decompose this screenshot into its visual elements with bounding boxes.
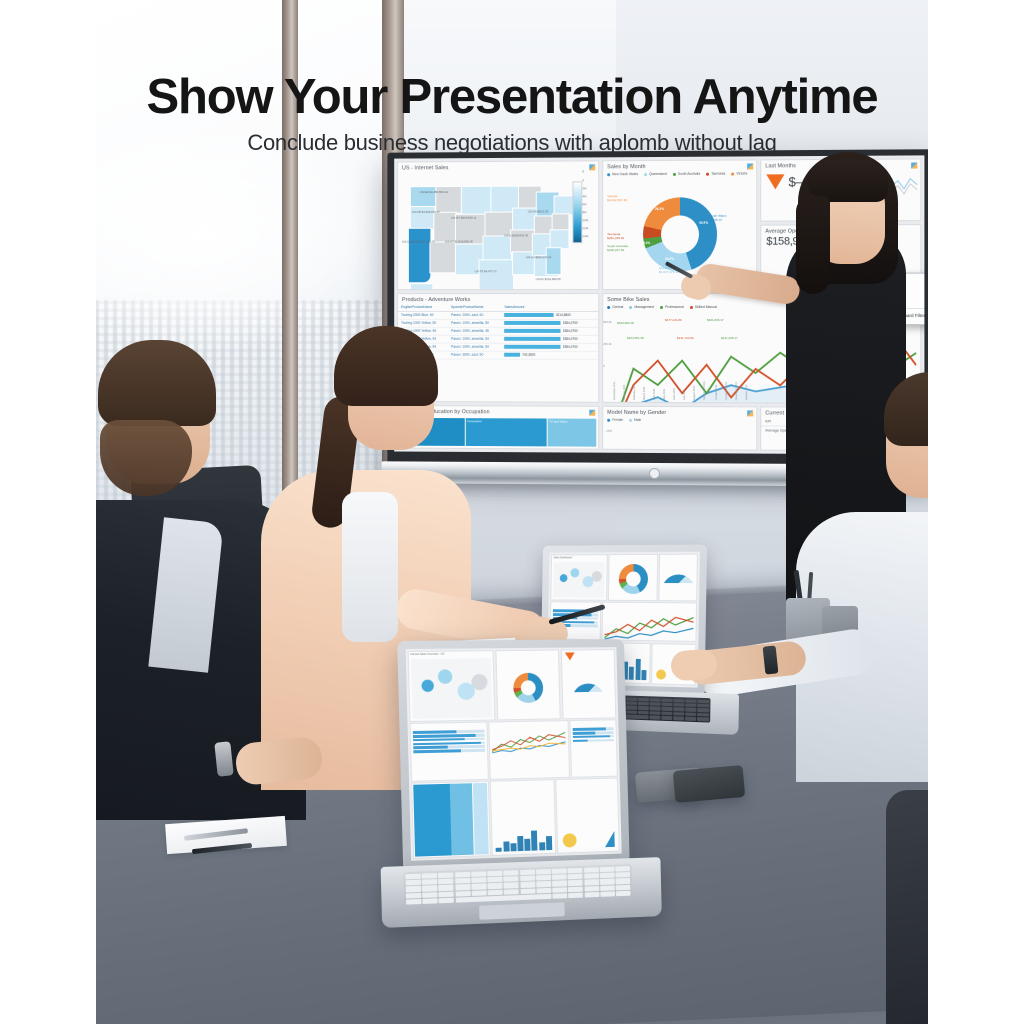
col-english-name[interactable]: EnglishProductName bbox=[398, 304, 448, 311]
office-chair-foreground bbox=[886, 790, 928, 1024]
mini-rows bbox=[573, 727, 615, 774]
mini-title: Internet Sales Overview - US bbox=[409, 651, 493, 657]
mini-donut bbox=[618, 564, 648, 594]
panel-menu-icon[interactable] bbox=[589, 410, 595, 416]
wristwatch bbox=[763, 645, 779, 674]
mini-gauge bbox=[572, 683, 606, 700]
panel-model-name-by-gender[interactable]: Model Name by Gender Female Male 15M bbox=[602, 406, 757, 451]
laptop-keyboard[interactable] bbox=[403, 864, 632, 907]
panel-menu-icon[interactable] bbox=[911, 162, 917, 168]
slice-label-vic: Victoria$1,842,567.38 bbox=[607, 195, 627, 203]
line-annotation: $241,008.17 bbox=[721, 336, 738, 340]
panel-menu-icon[interactable] bbox=[589, 164, 595, 170]
line-annotation: $394,082.28 bbox=[617, 321, 634, 325]
slice-pct-tas: 5.4% bbox=[643, 241, 650, 245]
table-row: Touring-1000 Yellow, 50Paseo: 1000, amar… bbox=[398, 319, 598, 327]
trend-down-icon bbox=[564, 652, 574, 660]
panel-menu-icon[interactable] bbox=[747, 163, 753, 169]
us-choropleth-map[interactable]: US-WA $1,383,834.44 US-OR $1,549,015.07 … bbox=[402, 173, 570, 286]
line-annotation: $241,744.69 bbox=[677, 336, 694, 340]
mini-indicator bbox=[563, 833, 577, 847]
table-row: Touring-1000 Yellow, 54Paseo: 1000, amar… bbox=[398, 335, 598, 343]
gender-legend: Female Male bbox=[603, 417, 756, 424]
wristwatch-left bbox=[214, 741, 233, 776]
mini-treemap bbox=[413, 783, 488, 857]
product-hero-image: Show Your Presentation Anytime Conclude … bbox=[0, 0, 1024, 1024]
line-annotation: $277,241.89 bbox=[665, 318, 682, 322]
external-ssd[interactable] bbox=[673, 765, 746, 803]
panel-title: Model Name by Gender bbox=[603, 407, 756, 418]
table-header-row: EnglishProductName SpanishProductName Sa… bbox=[398, 304, 598, 311]
person-presenter-hair-side bbox=[796, 196, 830, 294]
slice-label-sa: South Australia$348,227.65 bbox=[607, 245, 628, 253]
mini-title: Sales Dashboard bbox=[552, 555, 607, 560]
laptop-trackpad[interactable] bbox=[479, 902, 565, 920]
mini-donut bbox=[513, 672, 543, 702]
mini-lines bbox=[605, 611, 694, 642]
slice-pct-qld: 24.0% bbox=[665, 257, 674, 261]
power-button-icon[interactable] bbox=[649, 468, 660, 479]
mini-map bbox=[411, 658, 492, 718]
person-man-right-hand bbox=[670, 648, 718, 681]
front-laptop[interactable]: Internet Sales Overview - US bbox=[391, 639, 647, 946]
laptop-base bbox=[381, 857, 662, 928]
slice-label-nsw: New South Wales$3,972,248.10 bbox=[702, 215, 727, 223]
laptop-lid: Internet Sales Overview - US bbox=[397, 639, 630, 872]
panel-us-internet-sales[interactable]: US - Internet Sales bbox=[397, 160, 599, 290]
slice-pct-vic: 26.3% bbox=[655, 207, 664, 211]
mini-indicator bbox=[656, 669, 666, 679]
mini-gauge bbox=[661, 574, 695, 591]
mini-dashboard: Internet Sales Overview - US bbox=[406, 647, 622, 861]
person-woman-blazer-blouse bbox=[342, 492, 398, 642]
laptop-screen[interactable]: Internet Sales Overview - US bbox=[406, 647, 622, 861]
donut-legend: New South Wales Queensland South Austral… bbox=[603, 170, 756, 177]
slice-label-tas: Tasmania$281,165.62 bbox=[607, 233, 624, 241]
line-annotation: $361,806.37 bbox=[707, 318, 724, 322]
table-row: Touring-2000 Blue, 60Paseo: 2000, azul, … bbox=[398, 311, 598, 319]
panel-title: US - Internet Sales bbox=[398, 161, 598, 172]
panel-menu-icon[interactable] bbox=[747, 410, 753, 416]
page-subheadline: Conclude business negotiations with aplo… bbox=[0, 130, 1024, 156]
col-spanish-name[interactable]: SpanishProductName bbox=[448, 304, 501, 311]
mini-triangle bbox=[605, 831, 615, 847]
mini-bars bbox=[496, 828, 552, 852]
trend-down-icon bbox=[766, 174, 784, 189]
mini-map bbox=[553, 562, 604, 597]
mini-rows bbox=[413, 730, 486, 778]
y-tick: 15M bbox=[606, 429, 612, 433]
mini-lines bbox=[492, 729, 566, 754]
line-annotation: $204,581.98 bbox=[627, 336, 644, 340]
col-sales-amount[interactable]: SalesAmount bbox=[501, 304, 598, 311]
table-row: Touring-1000 Yellow, 46Paseo: 1000, amar… bbox=[398, 327, 598, 335]
page-headline: Show Your Presentation Anytime bbox=[0, 69, 1024, 125]
y-tick: 0 bbox=[603, 364, 605, 368]
panel-title: Products - Adventure Works bbox=[398, 294, 598, 304]
